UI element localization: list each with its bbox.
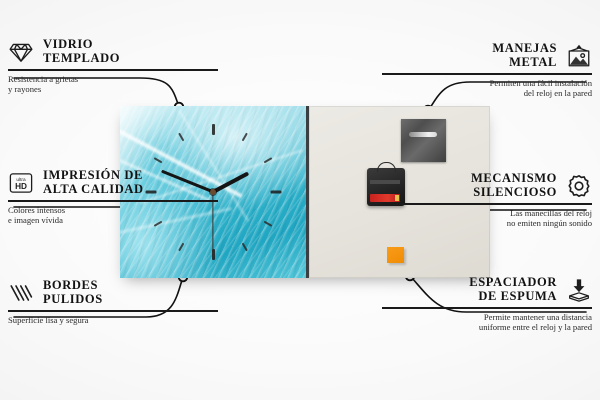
- feature-desc-line2: y rayones: [8, 84, 218, 95]
- feature-impresion-alta-calidad: ultra HD IMPRESIÓN DE ALTA CALIDAD Color…: [8, 169, 218, 226]
- feature-title-line1: BORDES: [43, 279, 103, 293]
- feature-divider: [8, 310, 218, 312]
- feature-title-line2: PULIDOS: [43, 293, 103, 307]
- feature-desc-line1: Resistencia a grietas: [8, 74, 218, 85]
- feature-divider: [8, 69, 218, 71]
- feature-title-line1: VIDRIO: [43, 38, 120, 52]
- feature-manejas-metal: MANEJAS METAL Permiten una fácil instala…: [382, 42, 592, 99]
- feature-divider: [382, 73, 592, 75]
- ultra-hd-icon: ultra HD: [8, 170, 34, 196]
- feature-mecanismo-silencioso: MECANISMO SILENCIOSO Las manecillas del …: [382, 172, 592, 229]
- feature-title-line1: ESPACIADOR: [469, 276, 557, 290]
- foam-spacer-icon: [566, 277, 592, 303]
- feature-espaciador-espuma: ESPACIADOR DE ESPUMA Permite mantener un…: [382, 276, 592, 333]
- feature-desc-line1: Permite mantener una distancia: [382, 312, 592, 323]
- infographic-canvas: VIDRIO TEMPLADO Resistencia a grietas y …: [0, 0, 600, 400]
- feature-desc-line1: Las manecillas del reloj: [382, 208, 592, 219]
- feature-desc-line1: Permiten una fácil instalación: [382, 78, 592, 89]
- feature-title-line2: METAL: [492, 56, 557, 70]
- feature-bordes-pulidos: BORDES PULIDOS Superficie lisa y segura: [8, 279, 218, 325]
- mechanism-hanging-loop: [377, 162, 396, 172]
- feature-desc-line2: e imagen vívida: [8, 215, 218, 226]
- svg-text:HD: HD: [15, 182, 27, 191]
- picture-hanger-icon: [566, 43, 592, 69]
- gear-icon: [566, 173, 592, 199]
- feature-divider: [382, 203, 592, 205]
- feature-title-line2: ALTA CALIDAD: [43, 183, 144, 197]
- feature-desc-line2: uniforme entre el reloj y la pared: [382, 322, 592, 333]
- diamond-icon: [8, 39, 34, 65]
- feature-desc-line2: no emiten ningún sonido: [382, 218, 592, 229]
- hanger-slot: [409, 132, 437, 137]
- feature-divider: [382, 307, 592, 309]
- polished-edges-icon: [8, 280, 34, 306]
- feature-title-line1: IMPRESIÓN DE: [43, 169, 144, 183]
- feature-title-line2: SILENCIOSO: [471, 186, 557, 200]
- foam-spacer-block: [387, 247, 404, 263]
- feature-desc-line1: Superficie lisa y segura: [8, 315, 218, 326]
- feature-desc-line1: Colores intensos: [8, 205, 218, 216]
- feature-title-line1: MECANISMO: [471, 172, 557, 186]
- feature-vidrio-templado: VIDRIO TEMPLADO Resistencia a grietas y …: [8, 38, 218, 95]
- feature-title-line1: MANEJAS: [492, 42, 557, 56]
- feature-desc-line2: del reloj en la pared: [382, 88, 592, 99]
- feature-title-line2: DE ESPUMA: [469, 290, 557, 304]
- feature-title-line2: TEMPLADO: [43, 52, 120, 66]
- metal-hanger-plate: [401, 119, 446, 162]
- feature-divider: [8, 200, 218, 202]
